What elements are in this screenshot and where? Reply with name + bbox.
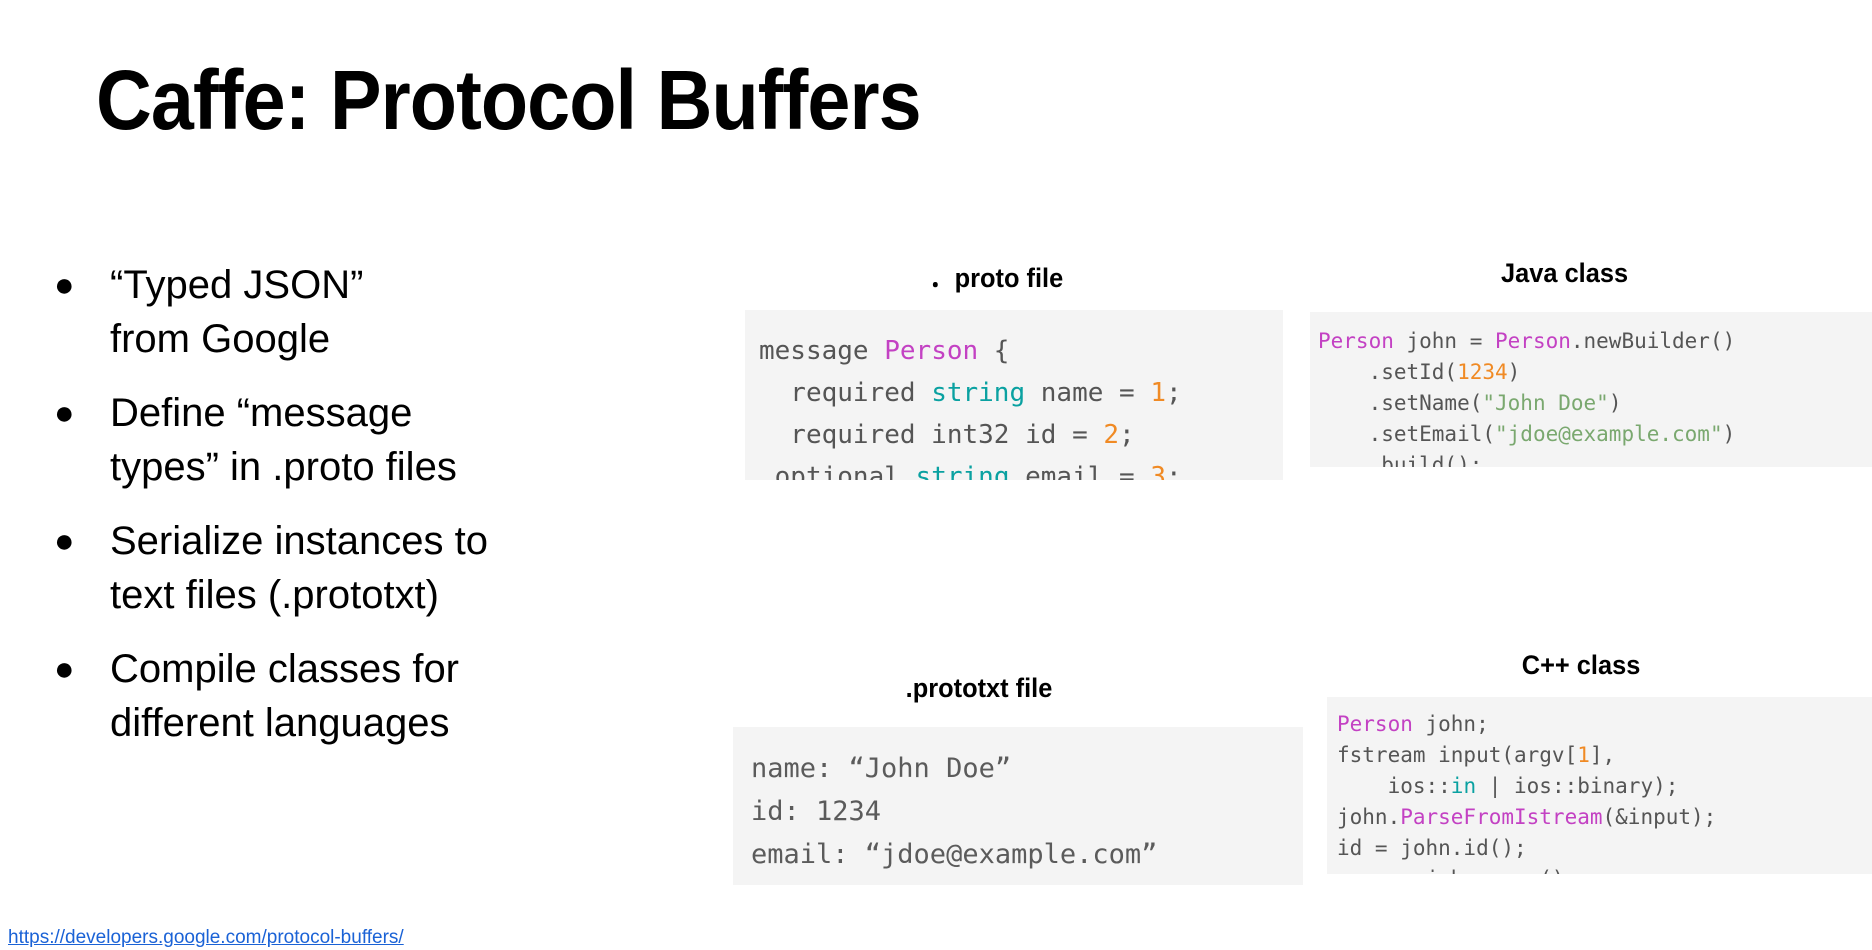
cpp-class-code-block: Person john; fstream input(argv[1], ios:… [1327,697,1872,874]
list-item-label: Define “message types” in .proto files [110,386,640,494]
list-item: ● Compile classes for different language… [40,642,640,750]
list-item: ● “Typed JSON” from Google [40,258,640,366]
list-item: ● Define “message types” in .proto files [40,386,640,494]
list-item: ● Serialize instances to text files (.pr… [40,514,640,622]
prototxt-file-heading: .prototxt file [906,673,1053,704]
bullet-dot-icon: ● [40,642,110,696]
list-item-label: “Typed JSON” from Google [110,258,640,366]
cpp-class-heading: C++ class [1522,650,1641,681]
list-item-label: Serialize instances to text files (.prot… [110,514,640,622]
prototxt-file-code: name: “John Doe” id: 1234 email: “jdoe@e… [751,747,1303,876]
java-class-code: Person john = Person.newBuilder() .setId… [1318,326,1872,467]
java-class-heading: Java class [1501,258,1628,289]
page-title: Caffe: Protocol Buffers [96,56,921,144]
bullet-dot-icon: ● [40,514,110,568]
proto-file-code-block: message Person { required string name = … [745,310,1283,480]
proto-file-code: message Person { required string name = … [759,330,1283,480]
bullet-dot-icon: ● [40,258,110,312]
proto-file-heading: ．proto file [929,256,1063,295]
prototxt-file-code-block: name: “John Doe” id: 1234 email: “jdoe@e… [733,727,1303,885]
list-item-label: Compile classes for different languages [110,642,640,750]
cpp-class-code: Person john; fstream input(argv[1], ios:… [1337,709,1872,874]
bullet-dot-icon: ● [40,386,110,440]
source-link[interactable]: https://developers.google.com/protocol-b… [8,927,404,949]
java-class-code-block: Person john = Person.newBuilder() .setId… [1310,312,1872,467]
bullet-list: ● “Typed JSON” from Google ● Define “mes… [40,258,640,770]
